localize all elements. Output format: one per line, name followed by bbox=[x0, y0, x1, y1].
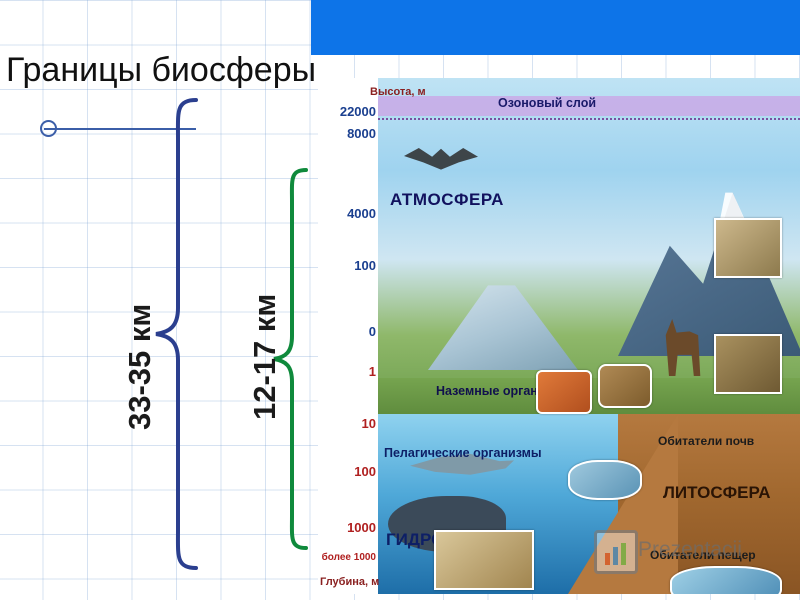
label-12-17-km: 12-17 км bbox=[247, 294, 283, 420]
chart-bar-1 bbox=[605, 553, 610, 565]
inset-insects bbox=[714, 218, 782, 278]
chart-bar-2 bbox=[613, 547, 618, 565]
watermark-text: Prezentacii bbox=[638, 538, 742, 562]
depth-tick-10: 10 bbox=[318, 416, 376, 431]
height-tick-4000: 4000 bbox=[318, 206, 376, 221]
slide-canvas: Границы биосферы 33-35 км 12-17 км Высот… bbox=[0, 0, 800, 600]
inset-crab bbox=[536, 370, 592, 414]
ozone-dotted-line bbox=[378, 118, 800, 120]
top-blue-banner bbox=[311, 0, 800, 55]
depth-tick-1: 1 bbox=[318, 364, 376, 379]
height-tick-8000: 8000 bbox=[318, 126, 376, 141]
pointer-dot-icon bbox=[40, 120, 57, 137]
label-pelagic-organisms: Пелагические организмы bbox=[384, 446, 542, 460]
watermark: Prezentacii bbox=[594, 528, 769, 574]
inset-soil-animals bbox=[714, 334, 782, 394]
inset-cave-pool bbox=[568, 460, 642, 500]
inset-benthic bbox=[434, 530, 534, 590]
inset-burrow bbox=[598, 364, 652, 408]
label-33-35-km: 33-35 км bbox=[122, 304, 158, 430]
axis-caption-height: Высота, м bbox=[370, 86, 426, 98]
axis-caption-depth: Глубина, м bbox=[320, 576, 379, 588]
height-tick-0: 0 bbox=[318, 324, 376, 339]
chart-bar-3 bbox=[621, 543, 626, 565]
label-soil-inhabitants: Обитатели почв bbox=[658, 434, 754, 448]
chart-icon bbox=[594, 530, 638, 574]
height-tick-22000: 22000 bbox=[318, 104, 376, 119]
depth-tick-100: 100 bbox=[318, 464, 376, 479]
biosphere-illustration: Высота, м Глубина, м 22000 8000 4000 100… bbox=[318, 78, 800, 594]
label-ozone-layer: Озоновый слой bbox=[498, 96, 596, 110]
depth-tick-more-1000: более 1000 bbox=[318, 552, 376, 563]
height-tick-100: 100 bbox=[318, 258, 376, 273]
label-atmosphere: АТМОСФЕРА bbox=[390, 190, 504, 210]
page-title: Границы биосферы bbox=[6, 50, 316, 90]
depth-tick-1000: 1000 bbox=[318, 520, 376, 535]
label-lithosphere: ЛИТОСФЕРА bbox=[663, 483, 771, 503]
